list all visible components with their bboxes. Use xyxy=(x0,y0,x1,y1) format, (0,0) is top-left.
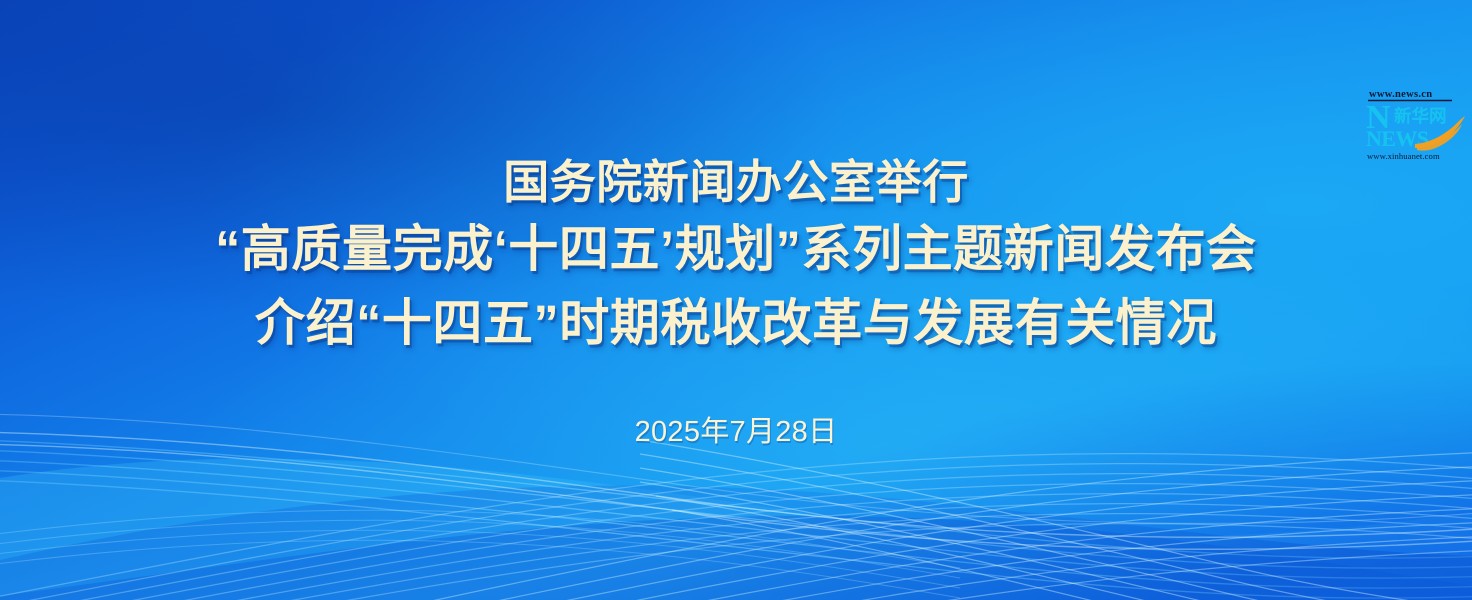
event-date: 2025年7月28日 xyxy=(0,408,1472,450)
headline-block: 国务院新闻办公室举行 “高质量完成‘十四五’规划”系列主题新闻发布会 介绍“十四… xyxy=(0,152,1472,360)
headline-line-2: “高质量完成‘十四五’规划”系列主题新闻发布会 xyxy=(0,212,1472,286)
logo-bottom-url-text: www.xinhuanet.com xyxy=(1367,151,1440,161)
headline-line-1: 国务院新闻办公室举行 xyxy=(0,152,1472,212)
news-conference-banner: 国务院新闻办公室举行 “高质量完成‘十四五’规划”系列主题新闻发布会 介绍“十四… xyxy=(0,0,1472,600)
headline-line-3: 介绍“十四五”时期税收改革与发展有关情况 xyxy=(0,286,1472,360)
xinhua-logo[interactable]: www.news.cn N 新华网 NEWS www.xinhuanet.com xyxy=(1363,86,1469,162)
logo-chinese-name: 新华网 xyxy=(1394,106,1447,127)
